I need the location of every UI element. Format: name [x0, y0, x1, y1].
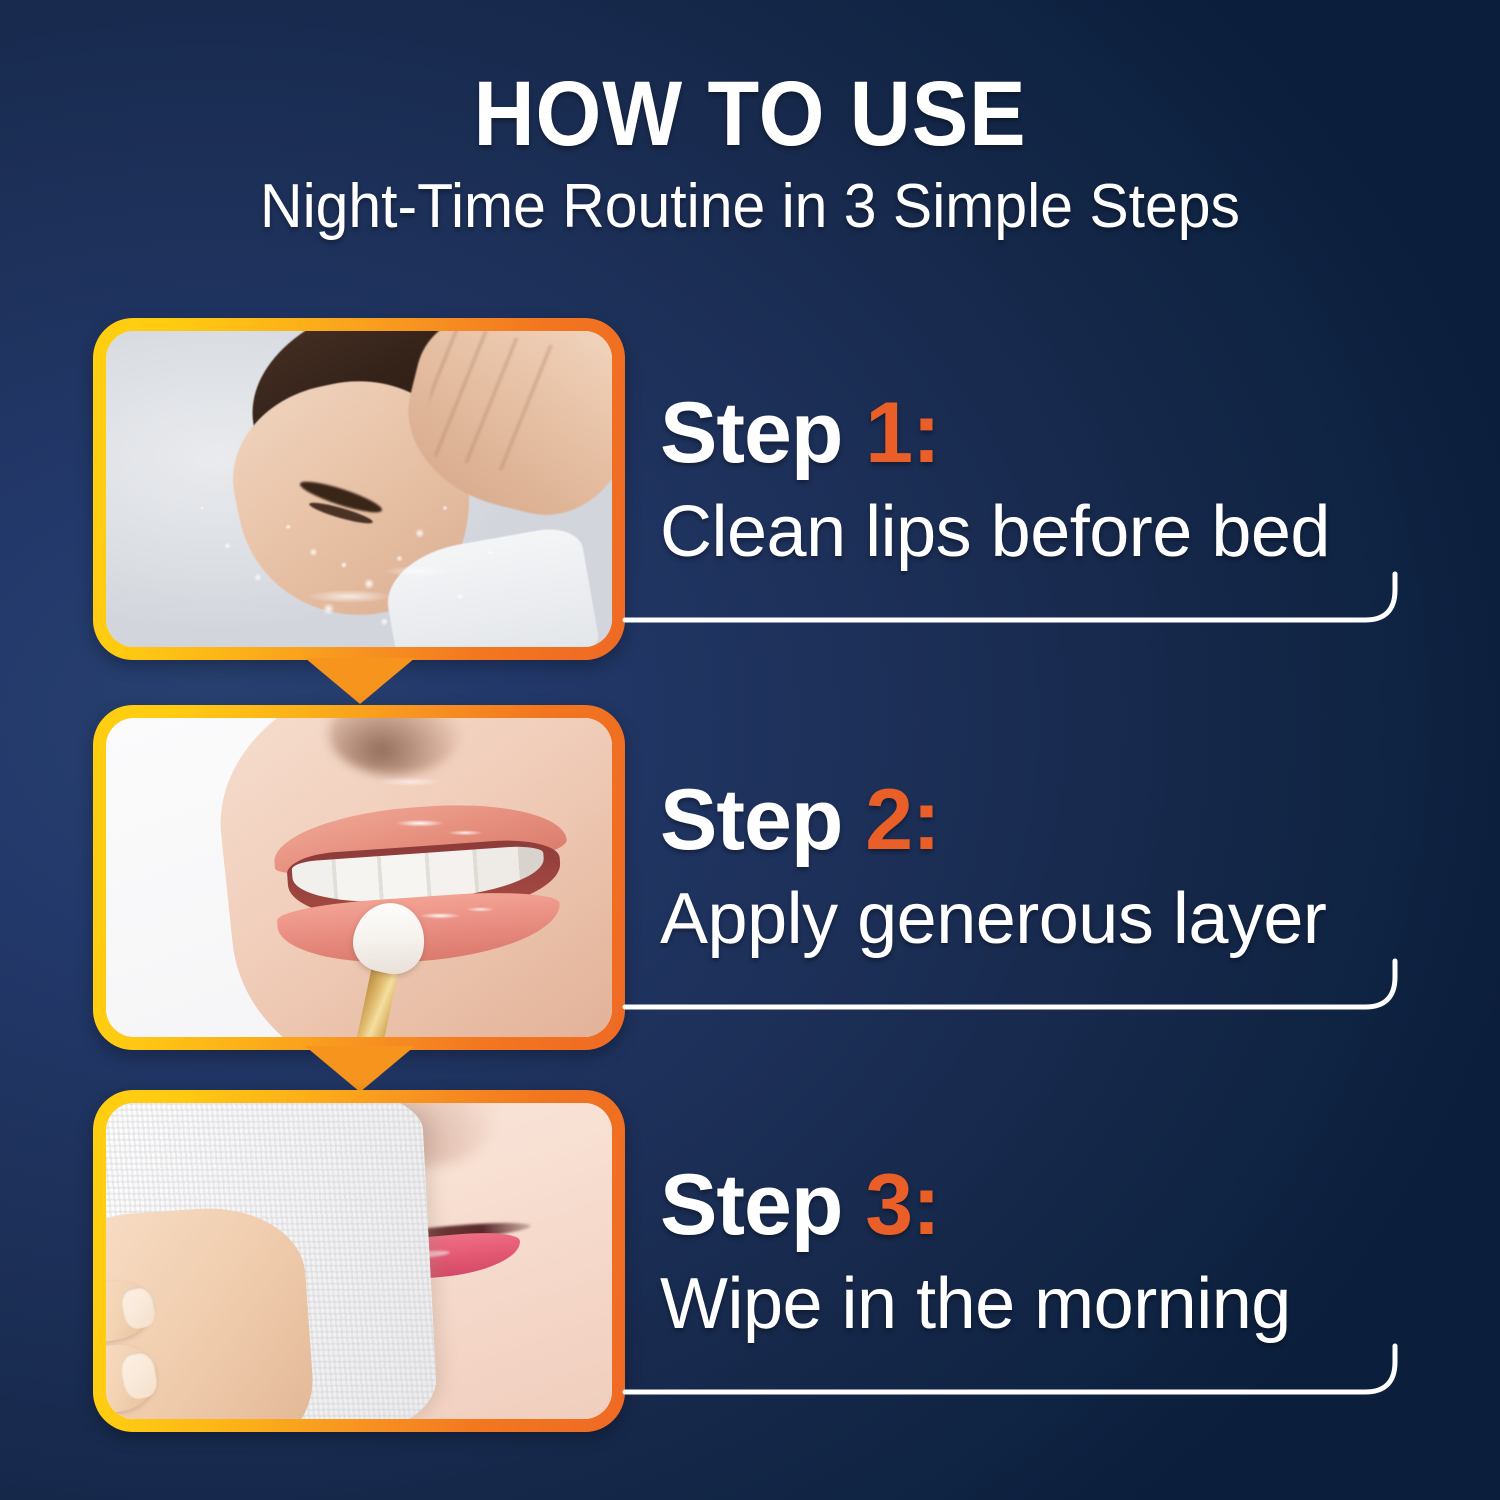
step-2-description: Apply generous layer: [660, 883, 1326, 955]
step-row-3: Step 3: Wipe in the morning: [0, 1090, 1500, 1432]
step-1-label: Step: [660, 385, 842, 481]
how-to-use-infographic: HOW TO USE Night-Time Routine in 3 Simpl…: [0, 0, 1500, 1500]
step-1-photo-card: [93, 318, 625, 660]
step-2-text-block: Step 2: Apply generous layer: [660, 705, 1450, 1050]
steps-list: Step 1: Clean lips before bed: [0, 0, 1500, 1500]
step-3-description: Wipe in the morning: [660, 1268, 1291, 1340]
step-3-number: 3:: [865, 1157, 939, 1253]
step-2-title: Step 2:: [660, 777, 940, 863]
step-3-underline: [625, 1346, 1430, 1418]
face-washing-image: [106, 331, 612, 647]
step-3-photo: [106, 1103, 612, 1419]
step-3-title: Step 3:: [660, 1162, 940, 1248]
step-1-number: 1:: [865, 385, 939, 481]
step-2-number: 2:: [865, 772, 939, 868]
lip-applicator-image: [106, 718, 612, 1037]
towel-wipe-image: [106, 1103, 612, 1419]
step-1-description: Clean lips before bed: [660, 496, 1330, 568]
connector-arrow-2: [305, 1046, 415, 1092]
step-3-label: Step: [660, 1157, 842, 1253]
step-2-photo-card: [93, 705, 625, 1050]
step-2-photo: [106, 718, 612, 1037]
step-row-2: Step 2: Apply generous layer: [0, 705, 1500, 1050]
step-1-underline: [625, 574, 1430, 646]
connector-arrow-1: [305, 658, 415, 704]
step-row-1: Step 1: Clean lips before bed: [0, 318, 1500, 660]
step-2-underline: [625, 961, 1430, 1033]
step-1-title: Step 1:: [660, 390, 940, 476]
step-3-text-block: Step 3: Wipe in the morning: [660, 1090, 1450, 1432]
step-2-label: Step: [660, 772, 842, 868]
step-1-text-block: Step 1: Clean lips before bed: [660, 318, 1450, 660]
step-3-photo-card: [93, 1090, 625, 1432]
step-1-photo: [106, 331, 612, 647]
